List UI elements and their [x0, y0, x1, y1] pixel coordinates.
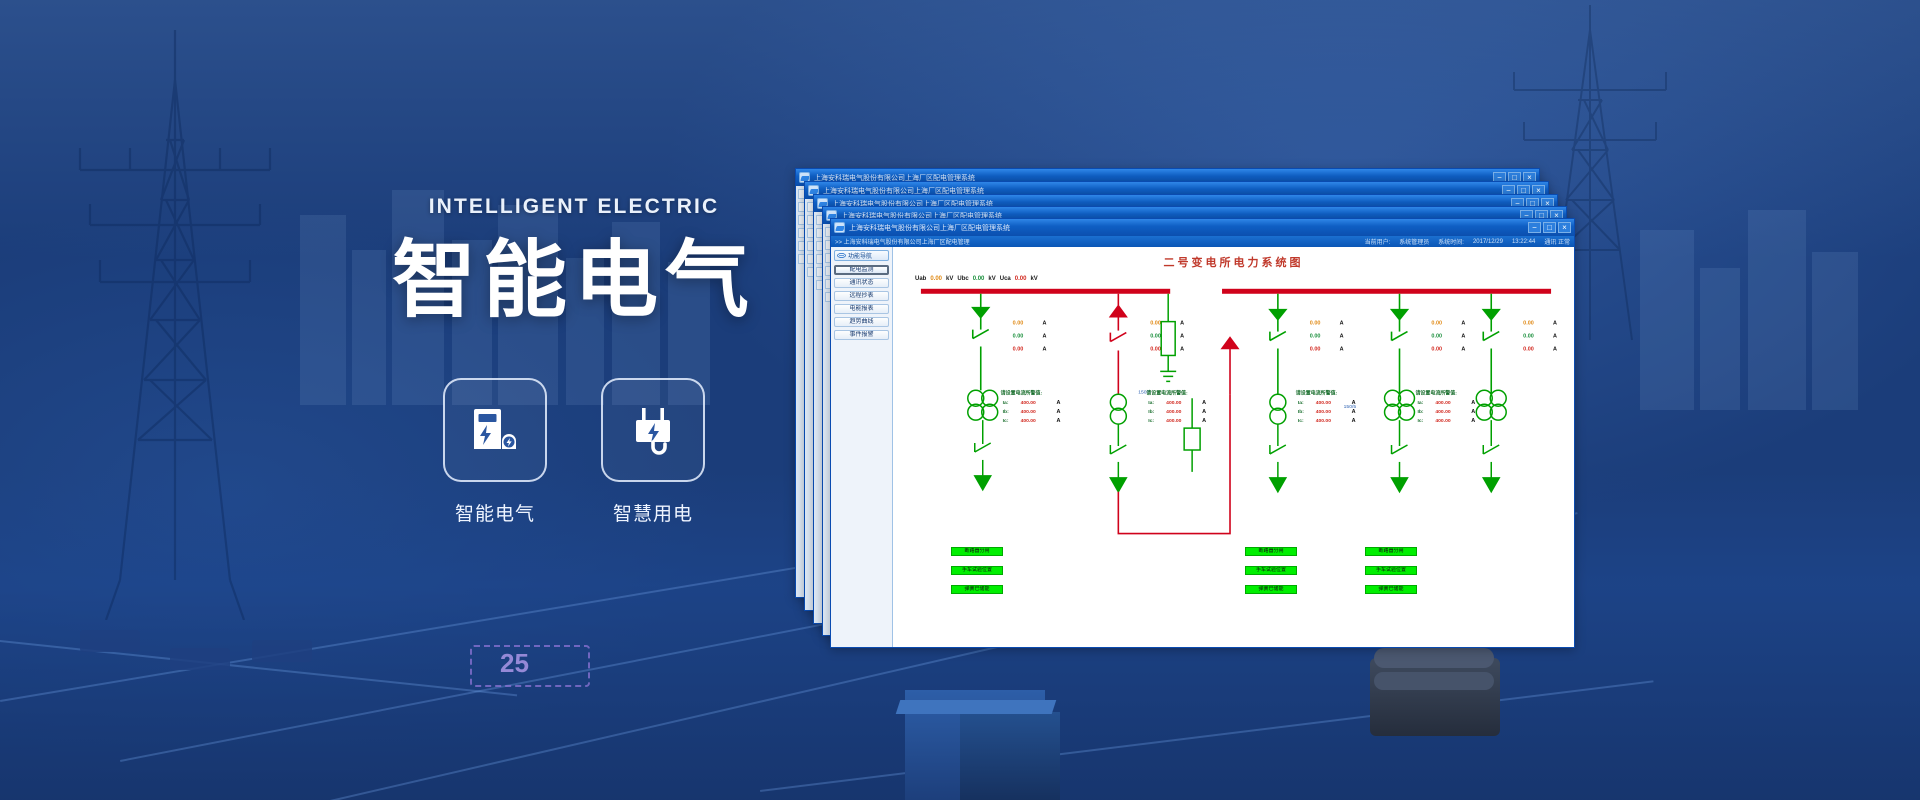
svg-text:Ia:: Ia:: [1148, 400, 1154, 406]
current-value: 0.00: [1310, 346, 1321, 352]
svg-text:请设置电流所警值:: 请设置电流所警值:: [1146, 389, 1188, 396]
protection-block-4: 请设置电流所警值: Ia:400.00A Ib:400.00A Ic:400.0…: [1415, 389, 1475, 424]
svg-text:A: A: [1202, 409, 1206, 415]
charging-station-icon: [466, 401, 524, 459]
svg-text:400.00: 400.00: [1166, 418, 1181, 424]
svg-text:A: A: [1471, 409, 1475, 415]
svg-text:A: A: [1202, 418, 1206, 424]
pylon-left-icon: [60, 20, 290, 620]
skyline-block: [1812, 252, 1858, 410]
current-value: 0.00: [1431, 321, 1442, 327]
minimize-button[interactable]: −: [1528, 222, 1541, 233]
current-unit: A: [1043, 334, 1047, 340]
feature-item-intelligent-electric[interactable]: 智能电气: [443, 378, 547, 526]
current-unit: A: [1340, 346, 1344, 352]
nav-item-power-monitoring[interactable]: 配电监测: [834, 265, 889, 275]
sld-diagram[interactable]: 二号变电所电力系统图 Uab 0.00 kV Ubc 0.00 kV Uca 0…: [893, 247, 1574, 647]
status-truck-test-position[interactable]: 手车试验位置: [951, 566, 1003, 575]
svg-text:400.00: 400.00: [1021, 400, 1036, 406]
window-controls[interactable]: − □ ×: [1528, 222, 1571, 233]
bus-tie: [1118, 338, 1238, 534]
skyline-block: [1748, 210, 1806, 410]
current-unit: A: [1340, 321, 1344, 327]
feeder-4-ct: [1385, 390, 1415, 491]
nav-item-remote-meter-read[interactable]: 远程抄表: [834, 291, 889, 301]
current-value: 0.00: [1013, 334, 1024, 340]
status-spring-charged[interactable]: 弹簧已储能: [1365, 585, 1417, 594]
foreground-building: [960, 712, 1060, 800]
current-unit: A: [1180, 321, 1184, 327]
svg-text:400.00: 400.00: [1166, 409, 1181, 415]
feeder-2: [1110, 294, 1126, 394]
feeder-4: [1392, 294, 1408, 394]
current-unit: A: [1340, 334, 1344, 340]
nav-item-energy-report[interactable]: 电能报表: [834, 304, 889, 314]
current-value: 0.00: [1310, 334, 1321, 340]
substation-pad-icon: [170, 648, 230, 670]
svg-text:Ia:: Ia:: [1298, 400, 1304, 406]
svg-text:400.00: 400.00: [1166, 400, 1181, 406]
feeder-3: [1270, 294, 1286, 394]
power-plug-icon: [624, 401, 682, 459]
svg-text:400.00: 400.00: [1435, 418, 1450, 424]
current-unit: A: [1461, 346, 1465, 352]
bus-tie-switch: [1184, 398, 1200, 472]
current-value: 0.00: [1310, 321, 1321, 327]
svg-text:请设置电流所警值:: 请设置电流所警值:: [1296, 389, 1338, 396]
pipe-badge-label: 25: [500, 648, 529, 679]
foreground-machinery: [1374, 648, 1494, 668]
surge-arrestor: [1160, 294, 1176, 382]
svg-text:请设置电流所警值:: 请设置电流所警值:: [1001, 389, 1043, 396]
status-truck-test-position[interactable]: 手车试验位置: [1365, 566, 1417, 575]
feeder-5-ct: [1476, 390, 1506, 491]
svg-text:A: A: [1202, 400, 1206, 406]
current-value: 0.00: [1150, 334, 1161, 340]
status-infobar: >> 上海安科瑞电气股份有限公司上海厂区配电管理 当前用户: 系统管理员 系统时…: [831, 236, 1574, 247]
hero-headline: 智能电气: [364, 237, 784, 324]
svg-text:A: A: [1057, 400, 1061, 406]
navigation-cloud-icon: [837, 252, 846, 259]
window-titlebar[interactable]: 上海安科瑞电气股份有限公司上海厂区配电管理系统 − □ ×: [831, 219, 1574, 236]
current-unit: A: [1461, 334, 1465, 340]
status-breaker-open[interactable]: 断路器分闸: [951, 547, 1003, 556]
current-value: 0.00: [1523, 346, 1534, 352]
svg-text:Ib:: Ib:: [1003, 409, 1009, 415]
svg-text:Ic:: Ic:: [1148, 418, 1154, 424]
svg-text:A: A: [1057, 409, 1061, 415]
status-breaker-open[interactable]: 断路器分闸: [1245, 547, 1297, 556]
svg-text:A: A: [1352, 409, 1356, 415]
svg-text:Ib:: Ib:: [1148, 409, 1154, 415]
foreground-building-roof: [896, 700, 1057, 714]
svg-text:400.00: 400.00: [1021, 409, 1036, 415]
substation-pad-icon: [80, 630, 140, 652]
feeder-5: [1483, 294, 1499, 394]
svg-text:Ia:: Ia:: [1417, 400, 1423, 406]
maximize-button[interactable]: □: [1543, 222, 1556, 233]
current-unit: A: [1180, 334, 1184, 340]
current-unit: A: [1180, 346, 1184, 352]
svg-text:Ic:: Ic:: [1298, 418, 1304, 424]
svg-text:Ic:: Ic:: [1417, 418, 1423, 424]
nav-item-comm-status[interactable]: 通讯状态: [834, 278, 889, 288]
close-button[interactable]: ×: [1558, 222, 1571, 233]
svg-text:A: A: [1471, 418, 1475, 424]
svg-text:400.00: 400.00: [1435, 400, 1450, 406]
current-value: 0.00: [1431, 334, 1442, 340]
skyline-block: [1700, 268, 1740, 410]
status-spring-charged[interactable]: 弹簧已储能: [951, 585, 1003, 594]
skyline-block: [1640, 230, 1694, 410]
current-value: 0.00: [1013, 321, 1024, 327]
current-value: 0.00: [1150, 321, 1161, 327]
feeder-1-ct: [968, 390, 998, 490]
current-unit: A: [1043, 346, 1047, 352]
hero-copy: INTELLIGENT ELECTRIC 智能电气 智能电气: [364, 195, 784, 526]
busbar-left: [921, 289, 1170, 294]
feature-label: 智能电气: [443, 499, 547, 526]
protection-block-1: 请设置电流所警值: Ia:400.00A Ib:400.00A Ic:400.0…: [1001, 389, 1061, 424]
feeder-2-ct: [1110, 394, 1126, 492]
nav-header: 功能导航: [834, 250, 889, 261]
window-title: 上海安科瑞电气股份有限公司上海厂区配电管理系统: [849, 223, 1524, 233]
current-unit: A: [1553, 346, 1557, 352]
feature-icon-box: [443, 378, 547, 482]
current-value: 0.00: [1013, 346, 1024, 352]
foreground-machinery: [1374, 672, 1494, 690]
svg-text:400.00: 400.00: [1316, 409, 1331, 415]
current-value: 0.00: [1150, 346, 1161, 352]
front-window[interactable]: 上海安科瑞电气股份有限公司上海厂区配电管理系统 − □ × >> 上海安科瑞电气…: [830, 218, 1575, 648]
pipe-badge: [470, 645, 590, 687]
nav-header-label: 功能导航: [848, 251, 872, 260]
current-unit: A: [1461, 321, 1465, 327]
infobar-breadcrumb: >> 上海安科瑞电气股份有限公司上海厂区配电管理: [835, 237, 1365, 246]
svg-text:400.00: 400.00: [1316, 418, 1331, 424]
svg-text:Ib:: Ib:: [1417, 409, 1423, 415]
current-value: 0.00: [1523, 334, 1534, 340]
window-stack: 上海安科瑞电气股份有限公司上海厂区配电管理系统 − □ × 上海安科瑞电气股份有…: [795, 168, 1575, 648]
svg-text:请设置电流所警值:: 请设置电流所警值:: [1415, 389, 1457, 396]
app-window-icon: [834, 222, 845, 233]
svg-text:A: A: [1057, 418, 1061, 424]
current-value: 0.00: [1523, 321, 1534, 327]
skyline-block: [300, 215, 346, 405]
infobar-time-value: 13:22:44: [1512, 239, 1535, 245]
svg-text:400.00: 400.00: [1435, 409, 1450, 415]
feature-list: 智能电气 智慧用电: [364, 378, 784, 526]
infobar-meta: 当前用户: 系统管理员 系统时间: 2017/12/29 13:22:44 通讯…: [1365, 237, 1570, 246]
current-unit: A: [1553, 334, 1557, 340]
infobar-user-label: 当前用户:: [1365, 237, 1391, 246]
status-spring-charged[interactable]: 弹簧已储能: [1245, 585, 1297, 594]
protection-block-2: 请设置电流所警值: Ia:400.00A Ib:400.00A Ic:400.0…: [1146, 389, 1206, 424]
status-truck-test-position[interactable]: 手车试验位置: [1245, 566, 1297, 575]
feature-icon-box: [601, 378, 705, 482]
substation-pad-icon: [252, 640, 312, 662]
feeder-1: [973, 294, 989, 391]
svg-text:A: A: [1471, 400, 1475, 406]
hero-eyebrow: INTELLIGENT ELECTRIC: [364, 195, 784, 219]
svg-text:Ic:: Ic:: [1003, 418, 1009, 424]
busbar-right: [1222, 289, 1551, 294]
svg-text:Ia:: Ia:: [1003, 400, 1009, 406]
svg-text:A: A: [1352, 400, 1356, 406]
svg-text:Ib:: Ib:: [1298, 409, 1304, 415]
infobar-status: 通讯 正常: [1544, 237, 1570, 246]
current-unit: A: [1553, 321, 1557, 327]
current-value: 0.00: [1431, 346, 1442, 352]
infobar-date-value: 2017/12/29: [1473, 239, 1503, 245]
svg-text:400.00: 400.00: [1316, 400, 1331, 406]
nav-item-trend-curve[interactable]: 趋势曲线: [834, 317, 889, 327]
current-unit: A: [1043, 321, 1047, 327]
feature-label: 智慧用电: [601, 499, 705, 526]
svg-text:A: A: [1352, 418, 1356, 424]
function-nav-pane: 功能导航 配电监测 通讯状态 远程抄表 电能报表 趋势曲线 事件报警: [831, 247, 893, 647]
feature-item-smart-power[interactable]: 智慧用电: [601, 378, 705, 526]
svg-text:400.00: 400.00: [1021, 418, 1036, 424]
feeder-3-ct: [1270, 394, 1286, 492]
infobar-user-value: 系统管理员: [1399, 237, 1429, 246]
nav-item-event-alarm[interactable]: 事件报警: [834, 330, 889, 340]
window-content: 功能导航 配电监测 通讯状态 远程抄表 电能报表 趋势曲线 事件报警 二号变电所…: [831, 247, 1574, 647]
foreground-machinery: [1370, 658, 1500, 736]
infobar-time-label: 系统时间:: [1438, 237, 1464, 246]
status-breaker-open[interactable]: 断路器分闸: [1365, 547, 1417, 556]
